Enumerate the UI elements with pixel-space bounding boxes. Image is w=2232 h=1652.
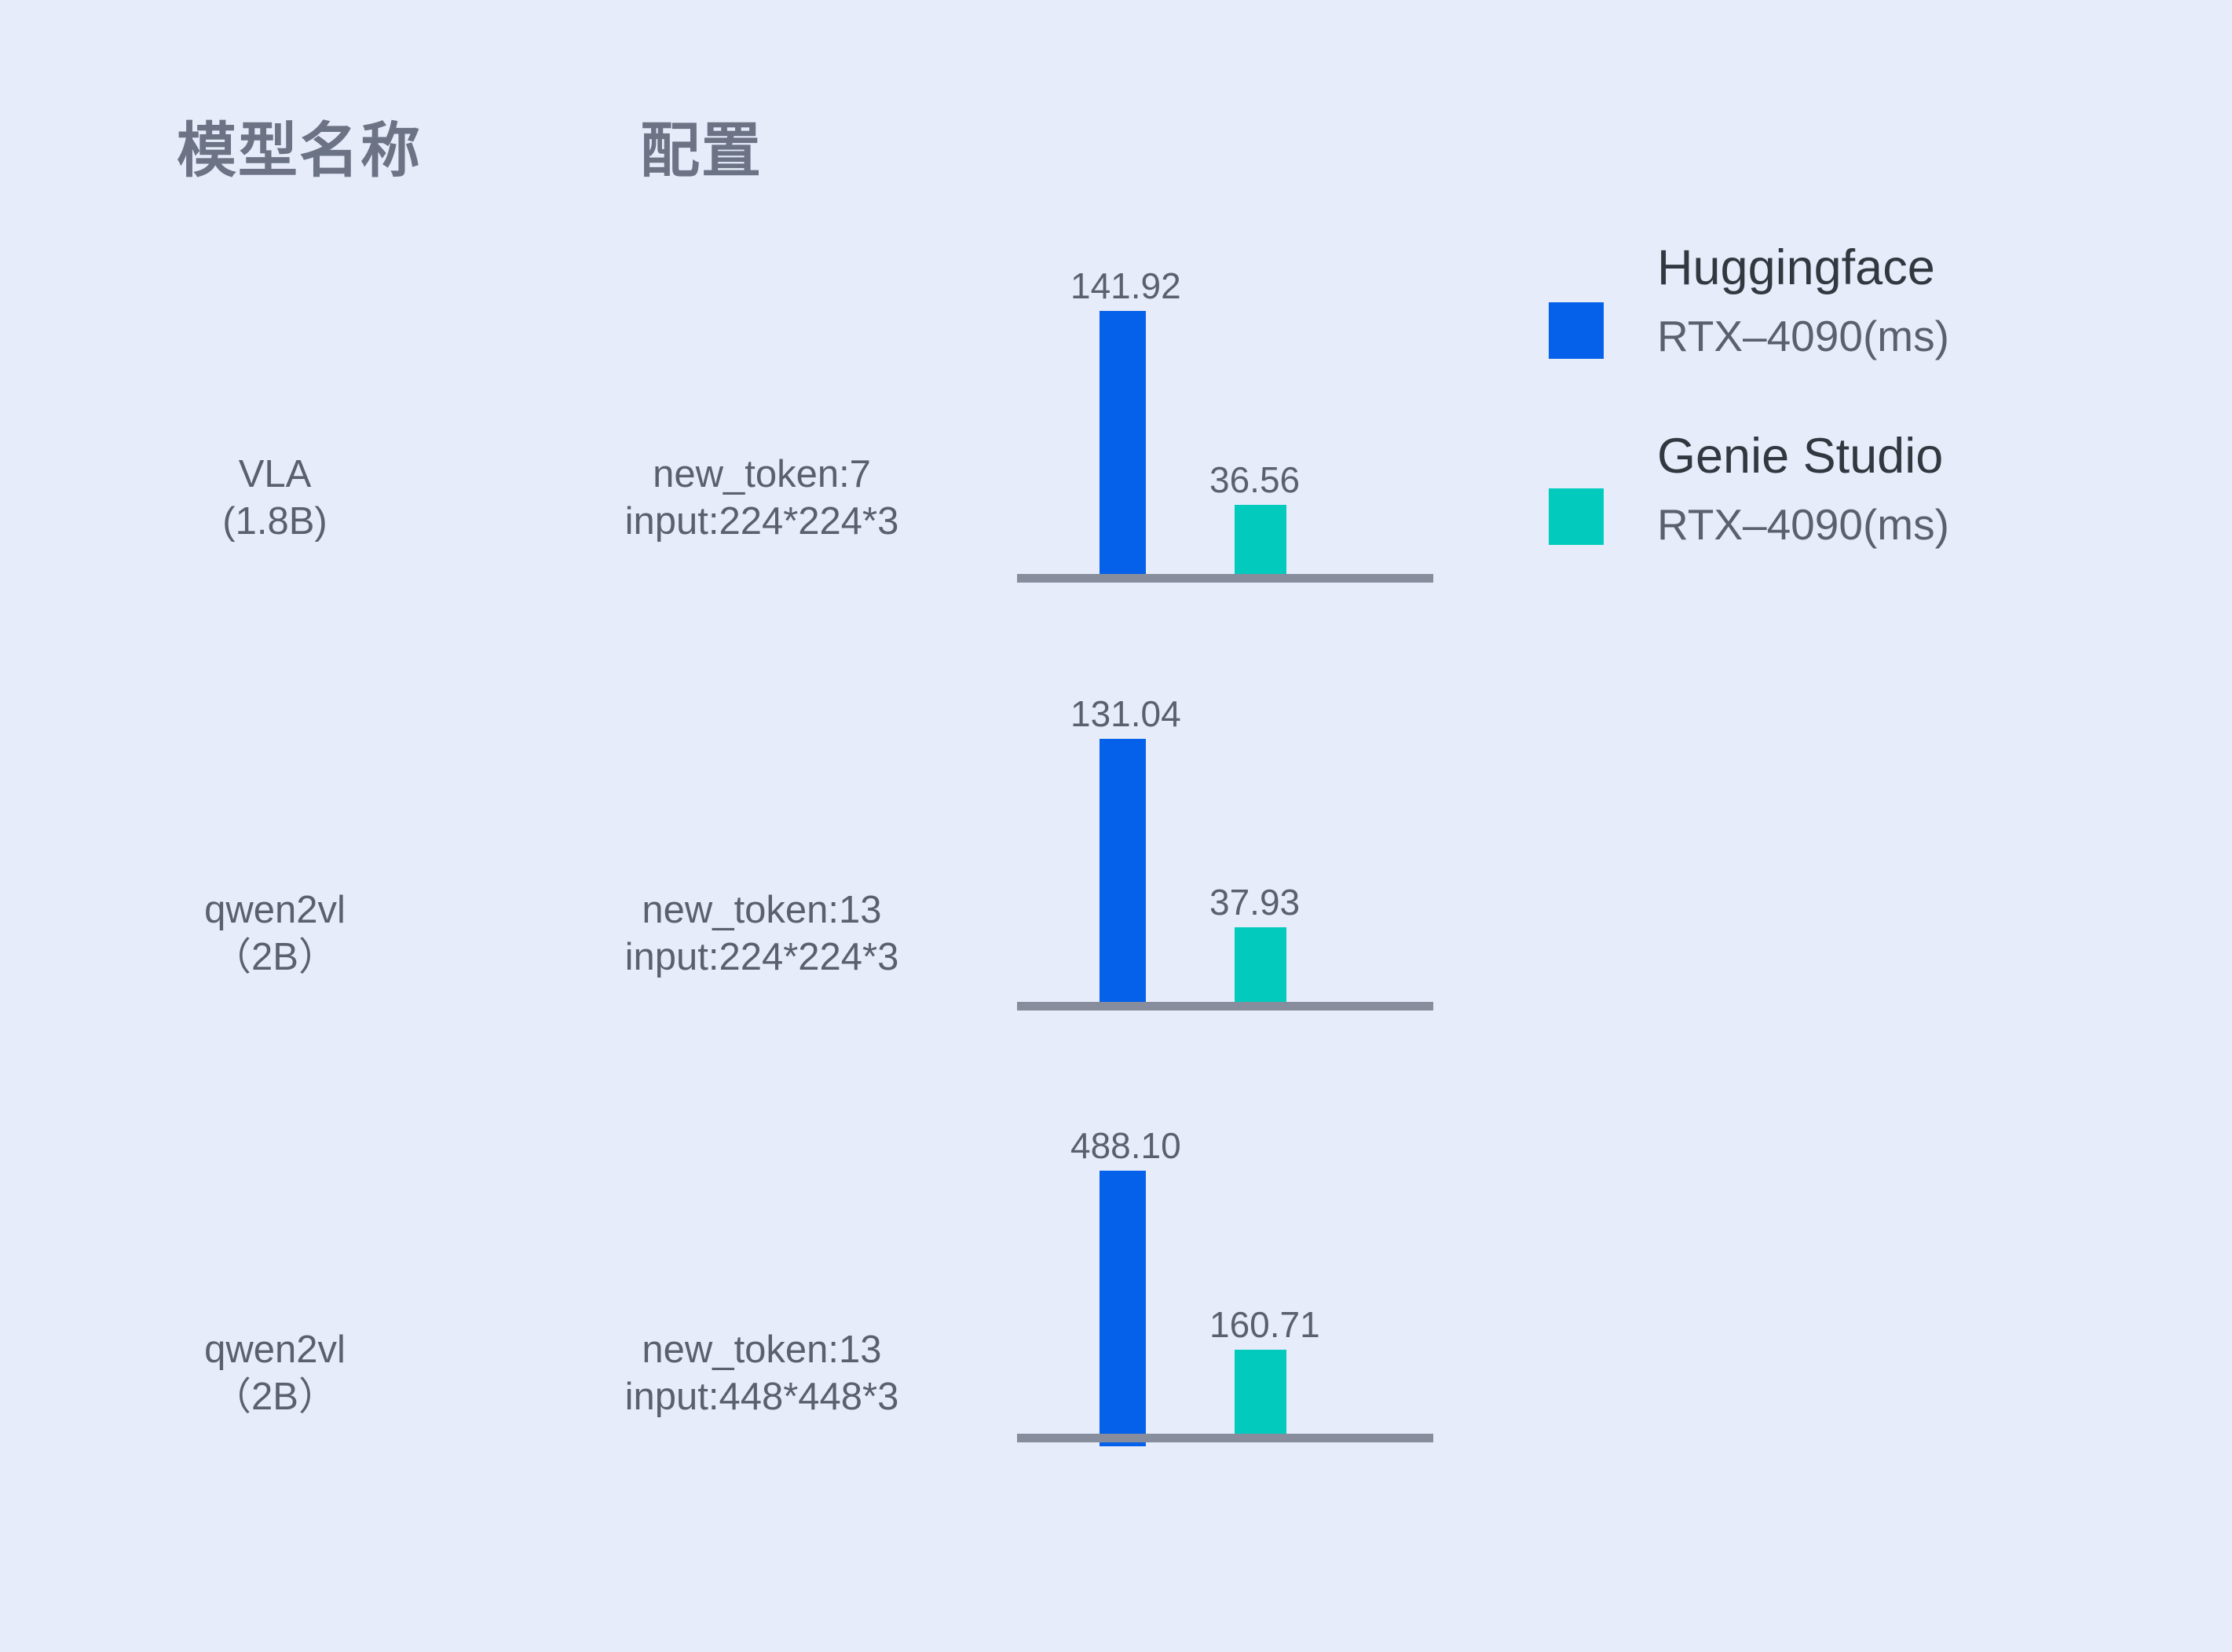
chart-baseline	[1017, 1434, 1433, 1442]
chart-legend: Huggingface RTX–4090(ms) Genie Studio RT…	[1539, 243, 2136, 620]
legend-subtitle: RTX–4090(ms)	[1657, 503, 2128, 546]
legend-item-huggingface[interactable]: Huggingface RTX–4090(ms)	[1539, 243, 2136, 432]
slide-canvas: 模型名称 配置 VLA (1.8B) new_token:7 input:224…	[0, 0, 2232, 1652]
bar-huggingface	[1100, 1171, 1146, 1446]
bar-genie-studio	[1235, 505, 1286, 578]
column-header-config: 配置	[640, 122, 763, 181]
legend-title: Genie Studio	[1657, 432, 2128, 481]
legend-subtitle: RTX–4090(ms)	[1657, 315, 2128, 358]
benchmark-row: qwen2vl （2B） new_token:13 input:448*448*…	[0, 1119, 2232, 1480]
bar-value-genie-studio: 36.56	[1209, 462, 1300, 498]
bar-value-genie-studio: 37.93	[1209, 884, 1300, 920]
model-name-cell: qwen2vl （2B）	[141, 887, 408, 981]
chart-baseline	[1017, 574, 1433, 583]
model-name-line1: qwen2vl	[204, 1329, 346, 1371]
config-line1: new_token:13	[642, 889, 881, 931]
config-line2: input:448*448*3	[471, 1374, 1052, 1421]
config-line2: input:224*224*3	[471, 934, 1052, 981]
legend-swatch-icon	[1549, 302, 1604, 359]
legend-item-genie-studio[interactable]: Genie Studio RTX–4090(ms)	[1539, 432, 2136, 620]
bar-genie-studio	[1235, 1350, 1286, 1438]
bar-value-genie-studio: 160.71	[1209, 1307, 1320, 1343]
config-cell: new_token:7 input:224*224*3	[471, 451, 1052, 546]
config-line2: input:224*224*3	[471, 499, 1052, 546]
bar-chart-panel: 131.04 37.93	[1017, 687, 1457, 1048]
bar-chart-panel: 141.92 36.56	[1017, 259, 1457, 620]
model-name-line1: VLA	[239, 453, 312, 495]
bar-chart-panel: 488.10 160.71	[1017, 1119, 1457, 1480]
chart-baseline	[1017, 1002, 1433, 1011]
bar-huggingface	[1100, 311, 1146, 578]
bar-huggingface	[1100, 739, 1146, 1006]
column-header-model-name: 模型名称	[177, 122, 422, 181]
column-headers: 模型名称 配置	[0, 122, 2232, 208]
bar-value-huggingface: 131.04	[1070, 696, 1181, 732]
legend-title: Huggingface	[1657, 243, 2128, 293]
benchmark-row: qwen2vl （2B） new_token:13 input:224*224*…	[0, 687, 2232, 1048]
legend-swatch-icon	[1549, 488, 1604, 545]
model-name-line1: qwen2vl	[204, 889, 346, 931]
model-name-line2: （2B）	[141, 934, 408, 981]
model-name-line2: (1.8B)	[141, 499, 408, 546]
model-name-cell: VLA (1.8B)	[141, 451, 408, 546]
config-line1: new_token:7	[653, 453, 871, 495]
config-cell: new_token:13 input:448*448*3	[471, 1327, 1052, 1421]
config-line1: new_token:13	[642, 1329, 881, 1371]
model-name-cell: qwen2vl （2B）	[141, 1327, 408, 1421]
bar-genie-studio	[1235, 927, 1286, 1006]
bar-value-huggingface: 488.10	[1070, 1128, 1181, 1164]
config-cell: new_token:13 input:224*224*3	[471, 887, 1052, 981]
model-name-line2: （2B）	[141, 1374, 408, 1421]
bar-value-huggingface: 141.92	[1070, 268, 1181, 304]
